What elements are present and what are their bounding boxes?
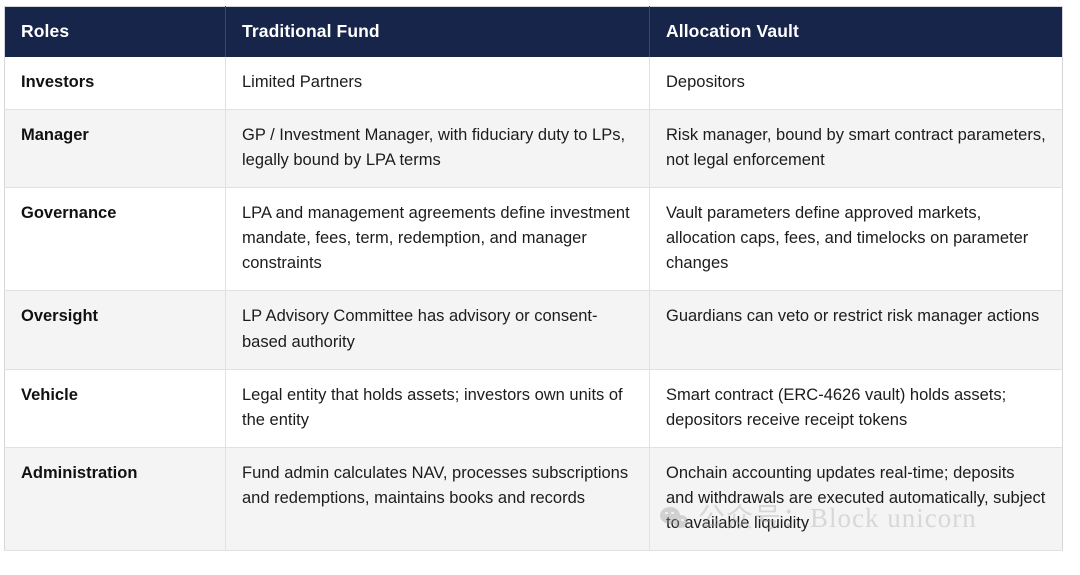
cell-traditional-fund: LP Advisory Committee has advisory or co… [226, 291, 650, 369]
cell-traditional-fund: GP / Investment Manager, with fiduciary … [226, 110, 650, 188]
table-header: Roles Traditional Fund Allocation Vault [5, 7, 1063, 58]
table-row: Manager GP / Investment Manager, with fi… [5, 110, 1063, 188]
cell-role: Administration [5, 447, 226, 550]
comparison-table-page: Roles Traditional Fund Allocation Vault … [0, 0, 1080, 575]
cell-role: Manager [5, 110, 226, 188]
table-row: Oversight LP Advisory Committee has advi… [5, 291, 1063, 369]
column-header-roles: Roles [5, 7, 226, 58]
cell-allocation-vault: Vault parameters define approved markets… [650, 188, 1063, 291]
table-header-row: Roles Traditional Fund Allocation Vault [5, 7, 1063, 58]
cell-traditional-fund: Fund admin calculates NAV, processes sub… [226, 447, 650, 550]
column-header-allocation-vault: Allocation Vault [650, 7, 1063, 58]
cell-role: Oversight [5, 291, 226, 369]
column-header-traditional-fund: Traditional Fund [226, 7, 650, 58]
cell-traditional-fund: LPA and management agreements define inv… [226, 188, 650, 291]
cell-allocation-vault: Depositors [650, 57, 1063, 110]
cell-allocation-vault: Smart contract (ERC-4626 vault) holds as… [650, 369, 1063, 447]
cell-role: Governance [5, 188, 226, 291]
roles-comparison-table: Roles Traditional Fund Allocation Vault … [4, 6, 1063, 551]
cell-role: Investors [5, 57, 226, 110]
table-row: Governance LPA and management agreements… [5, 188, 1063, 291]
cell-traditional-fund: Legal entity that holds assets; investor… [226, 369, 650, 447]
cell-allocation-vault: Guardians can veto or restrict risk mana… [650, 291, 1063, 369]
table-body: Investors Limited Partners Depositors Ma… [5, 57, 1063, 551]
cell-allocation-vault: Onchain accounting updates real-time; de… [650, 447, 1063, 550]
cell-role: Vehicle [5, 369, 226, 447]
table-row: Investors Limited Partners Depositors [5, 57, 1063, 110]
table-container: Roles Traditional Fund Allocation Vault … [4, 6, 1062, 551]
table-row: Administration Fund admin calculates NAV… [5, 447, 1063, 550]
table-row: Vehicle Legal entity that holds assets; … [5, 369, 1063, 447]
cell-traditional-fund: Limited Partners [226, 57, 650, 110]
cell-allocation-vault: Risk manager, bound by smart contract pa… [650, 110, 1063, 188]
